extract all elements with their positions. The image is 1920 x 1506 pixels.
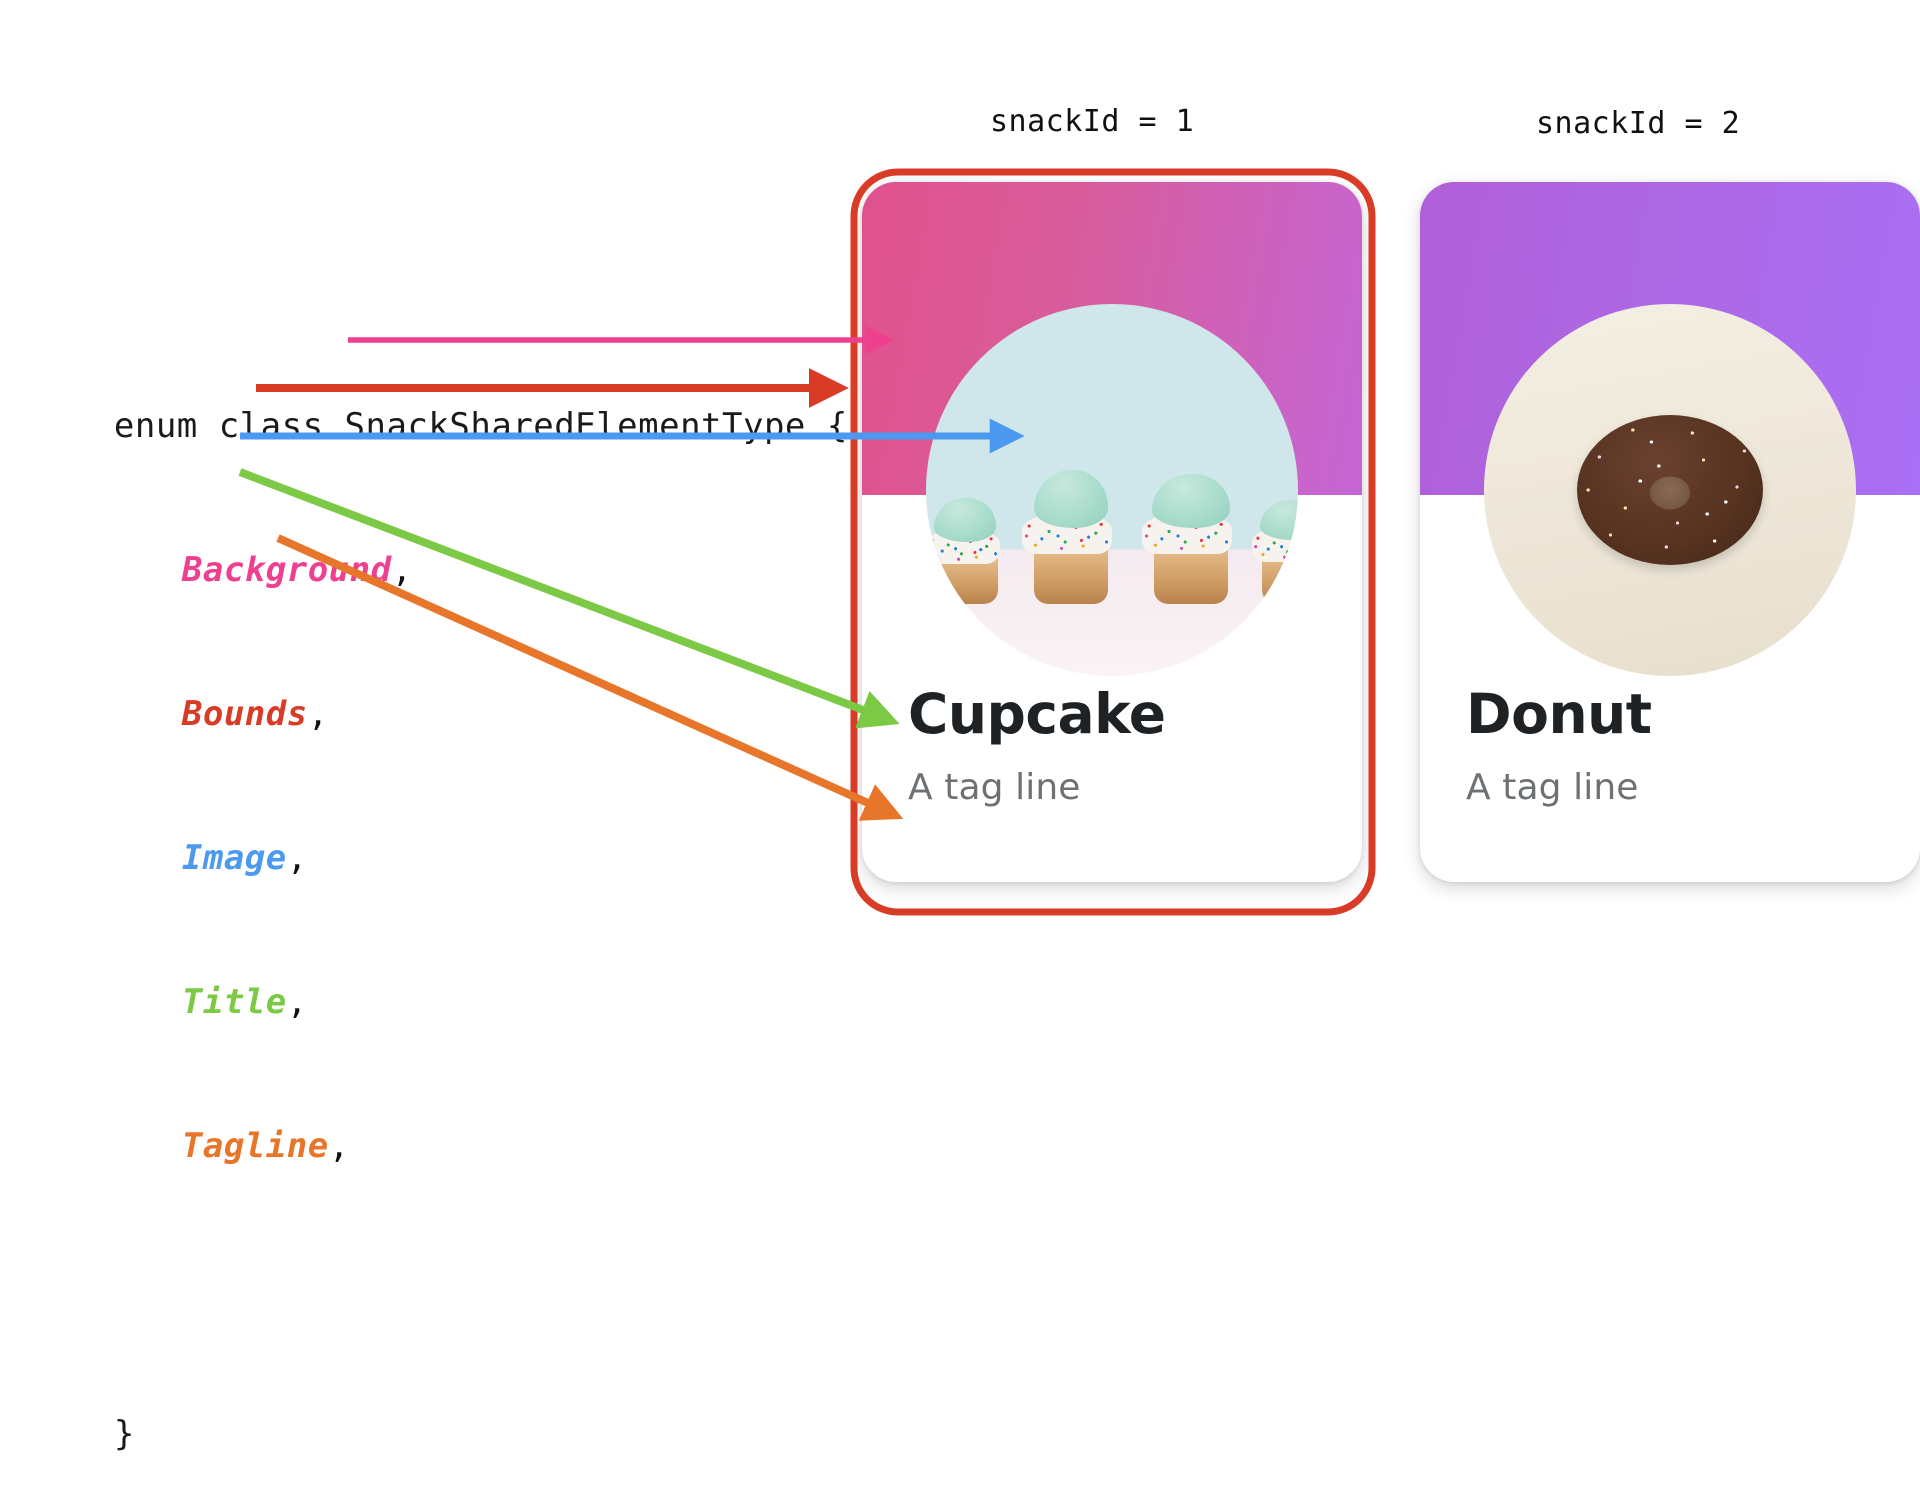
code-line-blank: [30, 1218, 848, 1266]
donut-ring: [1577, 415, 1763, 565]
comma-image: ,: [287, 838, 308, 878]
card-image-circle: [1484, 304, 1856, 676]
code-line-tagline: Tagline,: [30, 1074, 848, 1122]
comma-bounds: ,: [308, 694, 329, 734]
donut-hole: [1650, 477, 1690, 510]
enum-declaration: enum class SnackSharedElementType {: [114, 406, 848, 446]
code-line-header: enum class SnackSharedElementType {: [30, 354, 848, 402]
card-title: Cupcake: [908, 684, 1332, 745]
card-tagline: A tag line: [908, 767, 1332, 808]
comma-background: ,: [392, 550, 413, 590]
enum-member-background: Background: [182, 550, 392, 590]
enum-member-image: Image: [182, 838, 287, 878]
snack-id-caption-2: snackId = 2: [1536, 106, 1740, 141]
card-text-block: Cupcake A tag line: [908, 684, 1332, 808]
snack-card-cupcake[interactable]: Cupcake A tag line: [862, 182, 1362, 882]
closing-brace: }: [114, 1414, 135, 1454]
comma-title: ,: [287, 982, 308, 1022]
donut-photo: [1484, 304, 1856, 676]
card-text-block: Donut A tag line: [1466, 684, 1890, 808]
card-title: Donut: [1466, 684, 1890, 745]
enum-member-tagline: Tagline: [182, 1126, 329, 1166]
code-line-bounds: Bounds,: [30, 642, 848, 690]
comma-tagline: ,: [329, 1126, 350, 1166]
code-line-image: Image,: [30, 786, 848, 834]
snack-id-caption-1: snackId = 1: [990, 104, 1194, 139]
code-snippet: enum class SnackSharedElementType { Back…: [30, 258, 848, 1458]
code-line-title: Title,: [30, 930, 848, 978]
card-tagline: A tag line: [1466, 767, 1890, 808]
card-image-circle: [926, 304, 1298, 676]
enum-member-bounds: Bounds: [182, 694, 308, 734]
cupcakes-photo: [926, 304, 1298, 676]
code-line-background: Background,: [30, 498, 848, 546]
snack-card-donut[interactable]: Donut A tag line: [1420, 182, 1920, 882]
enum-member-title: Title: [182, 982, 287, 1022]
code-line-closing: }: [30, 1362, 848, 1410]
